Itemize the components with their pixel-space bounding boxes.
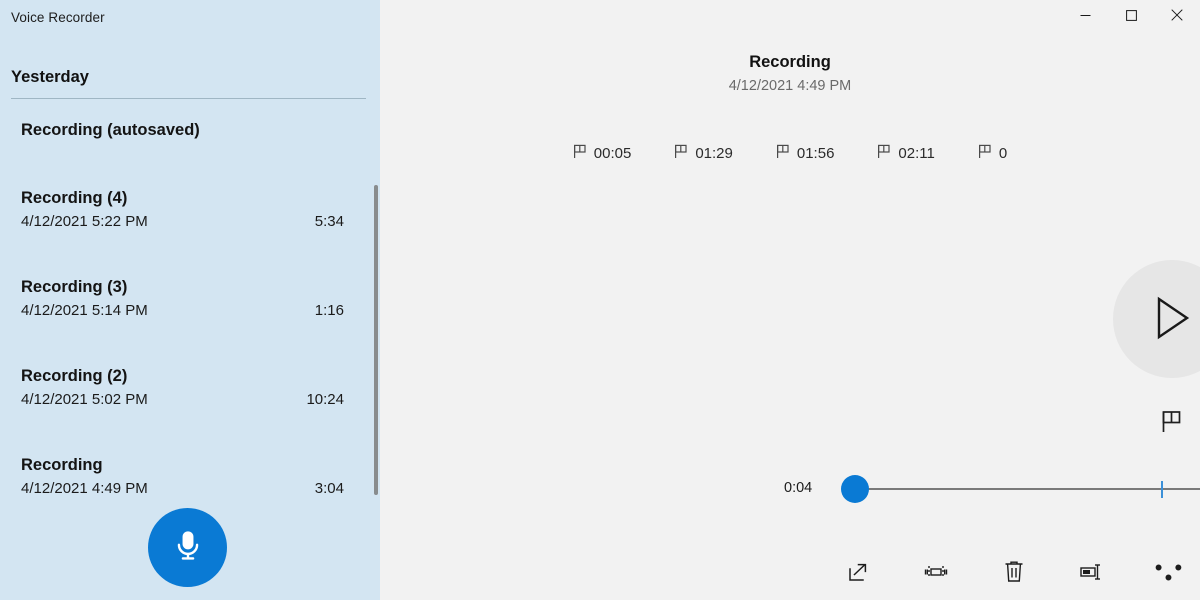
recording-name: Recording (2) — [21, 365, 344, 387]
group-header-yesterday: Yesterday — [11, 68, 89, 87]
marker-time: 01:29 — [695, 145, 733, 162]
flag-icon — [877, 144, 891, 163]
sidebar: Voice Recorder Yesterday Recording (auto… — [0, 0, 380, 600]
delete-icon — [1004, 560, 1024, 586]
marker-time: 02:11 — [898, 145, 934, 162]
recording-list[interactable]: Recording (autosaved) Recording (4) 4/12… — [0, 107, 380, 507]
bottom-toolbar: • • • — [760, 546, 1200, 600]
marker-time: 01:56 — [797, 145, 835, 162]
recording-date: 4/12/2021 5:14 PM — [21, 302, 148, 319]
recording-duration: 5:34 — [315, 213, 344, 230]
minimize-icon — [1080, 9, 1091, 24]
trim-icon — [923, 562, 949, 585]
maximize-icon — [1126, 9, 1137, 24]
play-button[interactable] — [1113, 260, 1200, 378]
flag-icon — [674, 144, 688, 163]
more-icon: • • • — [1150, 563, 1190, 583]
add-marker-button[interactable] — [1152, 404, 1192, 442]
trim-button[interactable] — [916, 554, 956, 592]
flag-icon — [978, 144, 992, 163]
list-item[interactable]: Recording 4/12/2021 4:49 PM 3:04 — [0, 442, 380, 507]
main-panel: Recording 4/12/2021 4:49 PM 00:05 — [380, 0, 1200, 600]
window-controls — [1062, 0, 1200, 32]
play-icon — [1151, 295, 1193, 344]
current-time-label: 0:04 — [784, 480, 812, 496]
marker-chip[interactable]: 01:56 — [776, 144, 835, 163]
maximize-button[interactable] — [1108, 0, 1154, 32]
recording-duration: 10:24 — [306, 391, 344, 408]
close-button[interactable] — [1154, 0, 1200, 32]
share-button[interactable] — [838, 554, 878, 592]
recording-name: Recording (4) — [21, 187, 344, 209]
delete-button[interactable] — [994, 554, 1034, 592]
timeline-thumb[interactable] — [841, 475, 869, 503]
timeline-marker-tick[interactable] — [1161, 481, 1163, 498]
voice-recorder-window: Voice Recorder Yesterday Recording (auto… — [0, 0, 1200, 600]
marker-chip[interactable]: 0 — [978, 144, 1007, 163]
marker-time: 00:05 — [594, 145, 632, 162]
minimize-button[interactable] — [1062, 0, 1108, 32]
timeline[interactable]: 0:04 3:04 — [380, 476, 1200, 506]
group-divider — [11, 98, 366, 99]
rename-icon — [1079, 562, 1105, 585]
marker-time: 0 — [999, 145, 1007, 162]
recording-name: Recording (autosaved) — [21, 119, 344, 141]
recording-date: 4/12/2021 5:22 PM — [21, 213, 148, 230]
page-title: Recording — [380, 53, 1200, 72]
marker-chip[interactable]: 01:29 — [674, 144, 733, 163]
microphone-icon — [171, 529, 205, 566]
record-button[interactable] — [148, 508, 227, 587]
marker-chip[interactable]: 02:11 — [877, 144, 934, 163]
flag-icon — [573, 144, 587, 163]
list-item[interactable]: Recording (4) 4/12/2021 5:22 PM 5:34 — [0, 175, 380, 264]
marker-list: 00:05 01:29 — [380, 144, 1200, 163]
timeline-track[interactable] — [858, 488, 1200, 490]
recording-duration: 1:16 — [315, 302, 344, 319]
list-item[interactable]: Recording (2) 4/12/2021 5:02 PM 10:24 — [0, 353, 380, 442]
flag-icon — [776, 144, 790, 163]
rename-button[interactable] — [1072, 554, 1112, 592]
close-icon — [1171, 9, 1183, 24]
recording-name: Recording — [21, 454, 344, 476]
list-item[interactable]: Recording (autosaved) — [0, 107, 380, 175]
recording-duration: 3:04 — [315, 480, 344, 497]
recording-date: 4/12/2021 5:02 PM — [21, 391, 148, 408]
app-title: Voice Recorder — [11, 10, 105, 25]
page-subtitle-date: 4/12/2021 4:49 PM — [380, 78, 1200, 94]
flag-icon — [1161, 410, 1183, 437]
share-icon — [847, 561, 869, 586]
list-item[interactable]: Recording (3) 4/12/2021 5:14 PM 1:16 — [0, 264, 380, 353]
more-options-button[interactable]: • • • — [1150, 554, 1190, 592]
recording-date: 4/12/2021 4:49 PM — [21, 480, 148, 497]
sidebar-scrollbar[interactable] — [374, 185, 378, 495]
recording-name: Recording (3) — [21, 276, 344, 298]
marker-chip[interactable]: 00:05 — [573, 144, 632, 163]
